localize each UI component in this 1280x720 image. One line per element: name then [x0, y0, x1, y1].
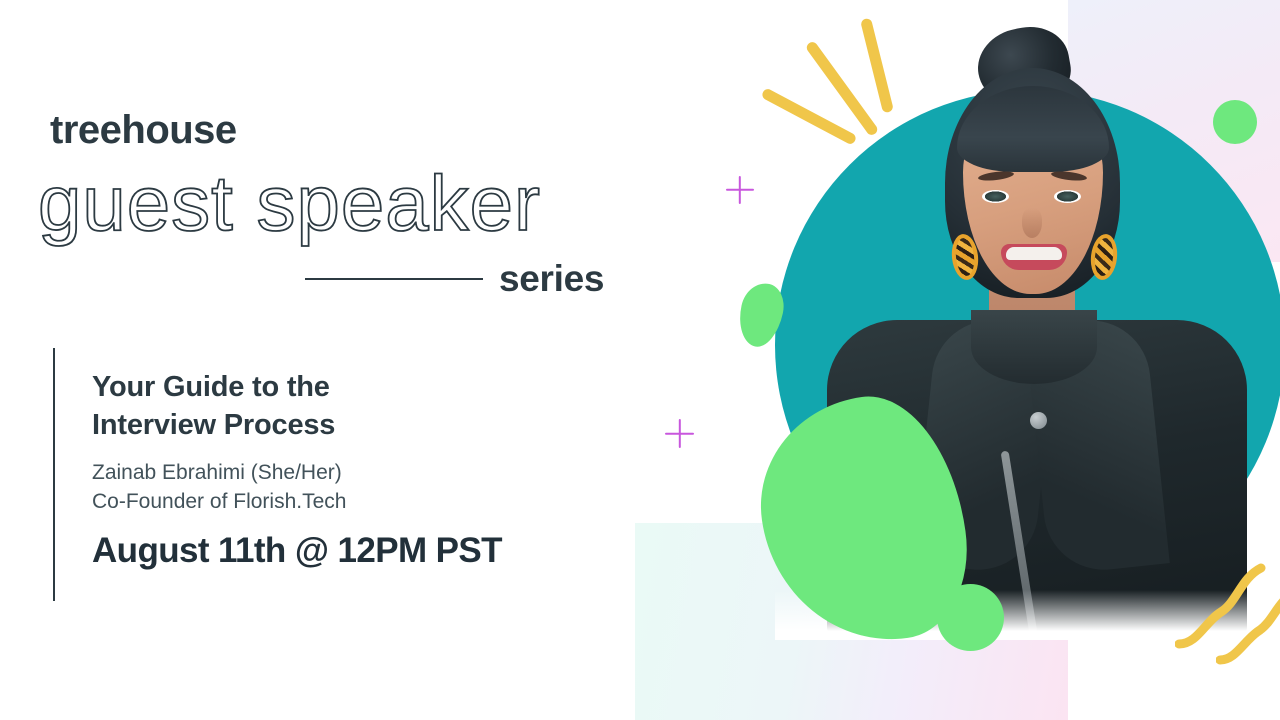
- session-headline-line1: Your Guide to the: [92, 371, 330, 403]
- green-circle-bottom: [937, 584, 1004, 651]
- magenta-plus-top: [726, 176, 754, 204]
- speaker-name: Zainab Ebrahimi (She/Her): [92, 458, 632, 488]
- session-info: Your Guide to the Interview Process Zain…: [92, 368, 632, 571]
- title-outline: guest speaker: [38, 158, 541, 249]
- session-datetime: August 11th @ 12PM PST: [92, 531, 632, 571]
- session-headline-line2: Interview Process: [92, 409, 335, 441]
- nose: [1022, 208, 1042, 238]
- teeth: [1006, 247, 1062, 260]
- jacket-collar: [971, 310, 1097, 384]
- speaker-details: Zainab Ebrahimi (She/Her) Co-Founder of …: [92, 458, 632, 518]
- brand-wordmark: treehouse: [50, 108, 237, 153]
- speaker-role: Co-Founder of Florish.Tech: [92, 487, 632, 517]
- info-accent-rule: [53, 348, 55, 601]
- magenta-plus-bottom: [665, 419, 694, 448]
- series-divider: [305, 278, 483, 280]
- eye-left: [982, 190, 1009, 203]
- slide-canvas: treehouse guest speaker series Your Guid…: [0, 0, 1280, 720]
- eye-right: [1054, 190, 1081, 203]
- series-label: series: [499, 258, 604, 300]
- session-headline: Your Guide to the Interview Process: [92, 368, 632, 445]
- jacket-snap-button: [1030, 412, 1047, 429]
- yellow-squiggle-2: [1216, 586, 1280, 666]
- series-row: series: [305, 255, 625, 303]
- smiling-mouth: [1001, 244, 1067, 270]
- green-circle-top: [1213, 100, 1257, 144]
